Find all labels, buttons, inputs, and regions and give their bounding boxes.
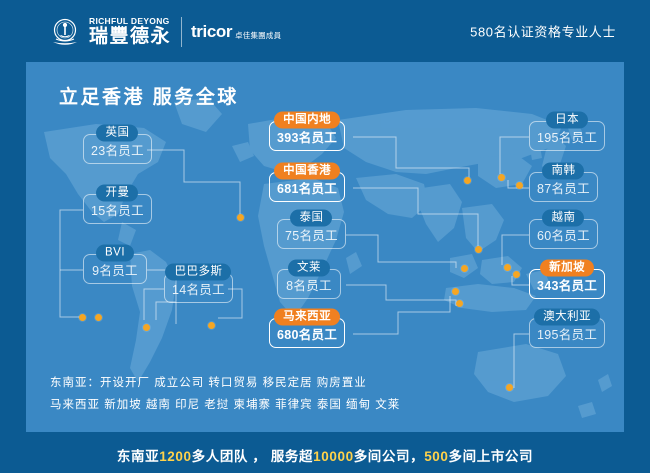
callout-uk[interactable]: 23名员工英国 [83, 134, 152, 164]
callout-region-label: 新加坡 [540, 260, 594, 277]
map-location-dot [475, 246, 482, 253]
callout-bvi[interactable]: 9名员工BVI [83, 254, 147, 284]
callout-australia[interactable]: 195名员工澳大利亚 [529, 318, 605, 348]
callout-region-label: 巴巴多斯 [165, 264, 231, 281]
callout-employee-count: 9名员工 [91, 264, 139, 278]
callout-employee-count: 681名员工 [277, 182, 337, 196]
callout-vietnam[interactable]: 60名员工越南 [529, 219, 598, 249]
bottom-seg-2: 多人团队 ， 服务超 [192, 449, 314, 464]
callout-region-label: 澳大利亚 [534, 309, 600, 326]
callout-region-label: 中国内地 [274, 112, 340, 129]
callout-region-label: 中国香港 [274, 163, 340, 180]
callout-region-label: 泰国 [290, 210, 332, 227]
callout-thailand[interactable]: 75名员工泰国 [277, 219, 346, 249]
brand-english-name: RICHFUL DEYONG [89, 16, 171, 26]
footnote-line-1: 东南亚：开设开厂 成立公司 转口贸易 移民定居 购房置业 [50, 374, 367, 390]
bottom-number-companies: 10000 [313, 449, 354, 464]
brand-divider [181, 17, 182, 47]
map-location-dot [143, 324, 150, 331]
bottom-summary-text: 东南亚1200多人团队 ， 服务超10000多间公司，500多间上市公司 [117, 445, 533, 465]
callout-cayman[interactable]: 15名员工开曼 [83, 194, 152, 224]
callout-region-label: 日本 [546, 112, 588, 129]
map-location-dot [79, 314, 86, 321]
map-location-dot [456, 300, 463, 307]
bottom-seg-3: 多间公司， [354, 449, 425, 464]
callout-employee-count: 195名员工 [537, 328, 597, 342]
brand-lockup: RICHFUL DEYONG 瑞豐德永 tricor 卓佳集團成員 [48, 14, 281, 50]
callout-employee-count: 393名员工 [277, 131, 337, 145]
callout-employee-count: 195名员工 [537, 131, 597, 145]
callout-employee-count: 15名员工 [91, 204, 144, 218]
partner-subtitle: 卓佳集團成員 [235, 30, 281, 41]
callout-employee-count: 14名员工 [172, 283, 225, 297]
callout-region-label: 文莱 [288, 260, 330, 277]
map-location-dot [504, 264, 511, 271]
map-location-dot [237, 214, 244, 221]
callout-region-label: BVI [96, 245, 134, 262]
callout-region-label: 南韩 [542, 163, 584, 180]
bottom-summary-bar: 东南亚1200多人团队 ， 服务超10000多间公司，500多间上市公司 [0, 437, 650, 473]
callout-brunei[interactable]: 8名员工文莱 [277, 269, 341, 299]
page-header: RICHFUL DEYONG 瑞豐德永 tricor 卓佳集團成員 580名认证… [0, 0, 650, 62]
callout-barbados[interactable]: 14名员工巴巴多斯 [164, 273, 233, 303]
callout-mainland[interactable]: 393名员工中国内地 [269, 121, 345, 151]
callout-region-label: 马来西亚 [274, 309, 340, 326]
callout-employee-count: 23名员工 [91, 144, 144, 158]
callout-region-label: 英国 [96, 125, 138, 142]
callout-region-label: 越南 [542, 210, 584, 227]
map-location-dot [461, 265, 468, 272]
bottom-number-team: 1200 [159, 449, 191, 464]
page-title: 立足香港 服务全球 [59, 82, 239, 109]
infographic-root: RICHFUL DEYONG 瑞豐德永 tricor 卓佳集團成員 580名认证… [0, 0, 650, 473]
partner-lockup: tricor 卓佳集團成員 [191, 23, 281, 41]
callout-southkorea[interactable]: 87名员工南韩 [529, 172, 598, 202]
header-stat-text: 580名认证资格专业人士 [470, 22, 616, 41]
callout-region-label: 开曼 [96, 185, 138, 202]
map-location-dot [464, 177, 471, 184]
bottom-seg-1: 东南亚 [117, 449, 159, 464]
brand-text: RICHFUL DEYONG 瑞豐德永 [89, 16, 171, 48]
callout-employee-count: 8名员工 [285, 279, 333, 293]
partner-name: tricor [191, 23, 232, 41]
map-location-dot [452, 288, 459, 295]
map-location-dot [498, 174, 505, 181]
callout-malaysia[interactable]: 680名员工马来西亚 [269, 318, 345, 348]
callout-employee-count: 680名员工 [277, 328, 337, 342]
map-location-dot [208, 322, 215, 329]
callout-employee-count: 75名员工 [285, 229, 338, 243]
map-location-dot [516, 182, 523, 189]
footnote-line-2: 马来西亚 新加坡 越南 印尼 老挝 柬埔寨 菲律宾 泰国 缅甸 文莱 [50, 396, 400, 412]
bottom-seg-4: 多间上市公司 [449, 449, 534, 464]
callout-employee-count: 87名员工 [537, 182, 590, 196]
callout-singapore[interactable]: 343名员工新加坡 [529, 269, 605, 299]
map-location-dot [95, 314, 102, 321]
company-crest-icon [48, 15, 82, 49]
callout-japan[interactable]: 195名员工日本 [529, 121, 605, 151]
map-location-dot [513, 271, 520, 278]
callout-employee-count: 60名员工 [537, 229, 590, 243]
bottom-number-listed: 500 [424, 449, 448, 464]
callout-employee-count: 343名员工 [537, 279, 597, 293]
callout-hongkong[interactable]: 681名员工中国香港 [269, 172, 345, 202]
brand-chinese-name: 瑞豐德永 [89, 26, 171, 48]
map-location-dot [506, 384, 513, 391]
